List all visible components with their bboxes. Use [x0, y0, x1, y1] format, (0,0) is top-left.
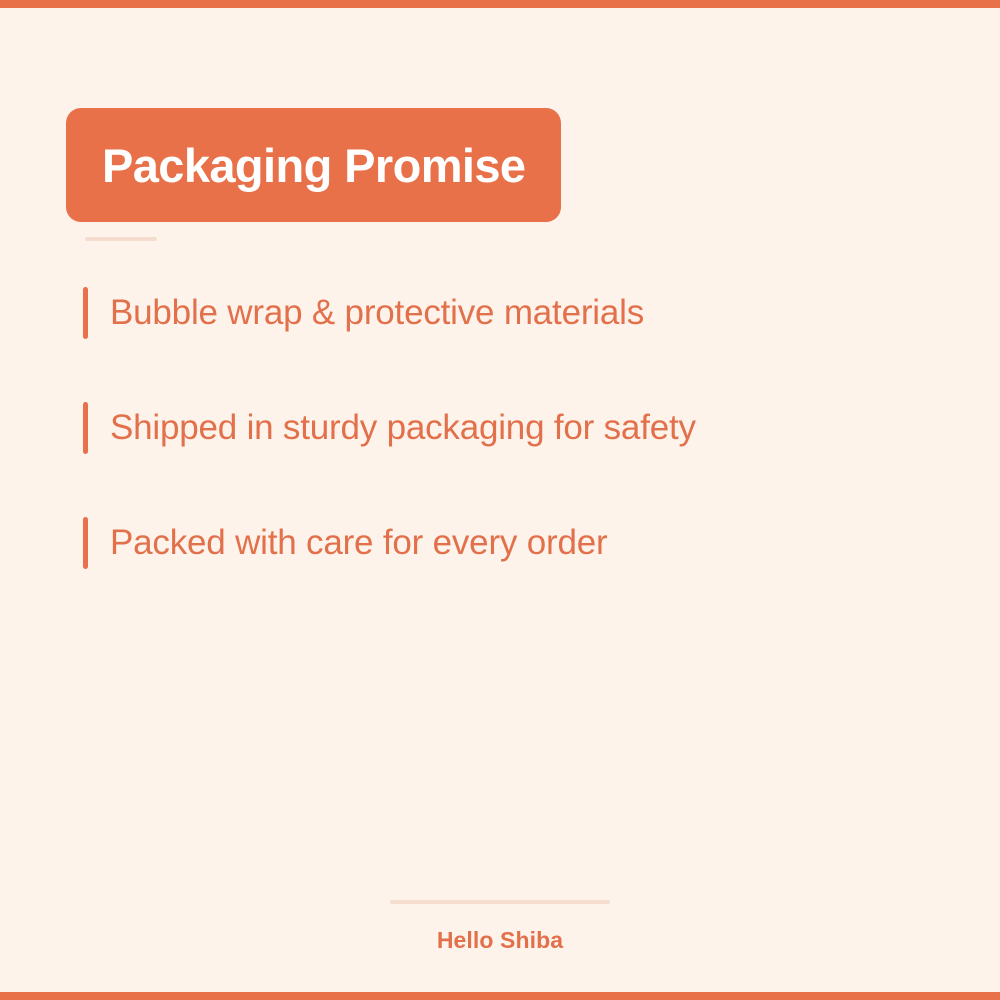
list-item: Bubble wrap & protective materials: [83, 287, 943, 339]
top-accent-bar: [0, 0, 1000, 8]
list-item-label: Packed with care for every order: [110, 517, 607, 569]
footer: Hello Shiba: [0, 900, 1000, 952]
vertical-bar-icon: [83, 402, 88, 454]
vertical-bar-icon: [83, 287, 88, 339]
brand-name: Hello Shiba: [0, 929, 1000, 952]
page-title: Packaging Promise: [102, 142, 525, 189]
title-divider: [85, 237, 157, 241]
list-item-label: Shipped in sturdy packaging for safety: [110, 402, 696, 454]
list-item: Shipped in sturdy packaging for safety: [83, 402, 943, 454]
packaging-promise-card: Packaging Promise Bubble wrap & protecti…: [0, 0, 1000, 1000]
feature-list: Bubble wrap & protective materials Shipp…: [83, 287, 943, 569]
footer-divider: [390, 900, 610, 904]
list-item-label: Bubble wrap & protective materials: [110, 287, 644, 339]
vertical-bar-icon: [83, 517, 88, 569]
bottom-accent-bar: [0, 992, 1000, 1000]
page-title-badge: Packaging Promise: [66, 108, 561, 222]
list-item: Packed with care for every order: [83, 517, 943, 569]
